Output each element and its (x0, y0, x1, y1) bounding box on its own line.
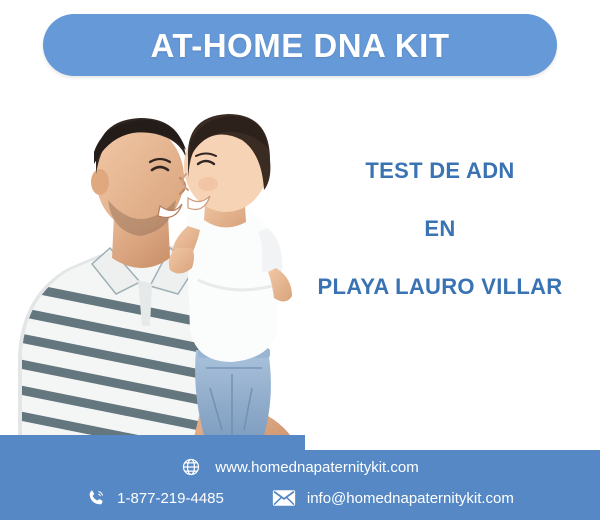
headline-line-1: TEST DE ADN (290, 160, 590, 182)
envelope-icon (272, 489, 296, 507)
footer-email-text[interactable]: info@homednapaternitykit.com (307, 491, 514, 506)
father-and-child-photo (0, 82, 330, 454)
footer-phone-text[interactable]: 1-877-219-4485 (117, 491, 224, 506)
globe-icon (181, 457, 201, 477)
footer-content: www.homednapaternitykit.com 1-877-219-44… (0, 435, 600, 520)
headline-block: TEST DE ADN EN PLAYA LAURO VILLAR (290, 160, 590, 298)
footer-band: www.homednapaternitykit.com 1-877-219-44… (0, 435, 600, 520)
phone-icon (86, 488, 106, 508)
header-badge-container: AT-HOME DNA KIT (0, 14, 600, 76)
footer-website-row: www.homednapaternitykit.com (0, 457, 600, 477)
footer-phone-item[interactable]: 1-877-219-4485 (86, 488, 224, 508)
header-badge-label: AT-HOME DNA KIT (151, 29, 450, 62)
footer-email-item[interactable]: info@homednapaternitykit.com (272, 489, 514, 507)
headline-line-3: PLAYA LAURO VILLAR (290, 276, 590, 298)
footer-website-text[interactable]: www.homednapaternitykit.com (215, 460, 418, 475)
header-badge: AT-HOME DNA KIT (43, 14, 557, 76)
poster-canvas: AT-HOME DNA KIT (0, 0, 600, 520)
footer-contact-row: 1-877-219-4485 info@homednapaternitykit.… (0, 488, 600, 508)
headline-line-2: EN (290, 218, 590, 240)
